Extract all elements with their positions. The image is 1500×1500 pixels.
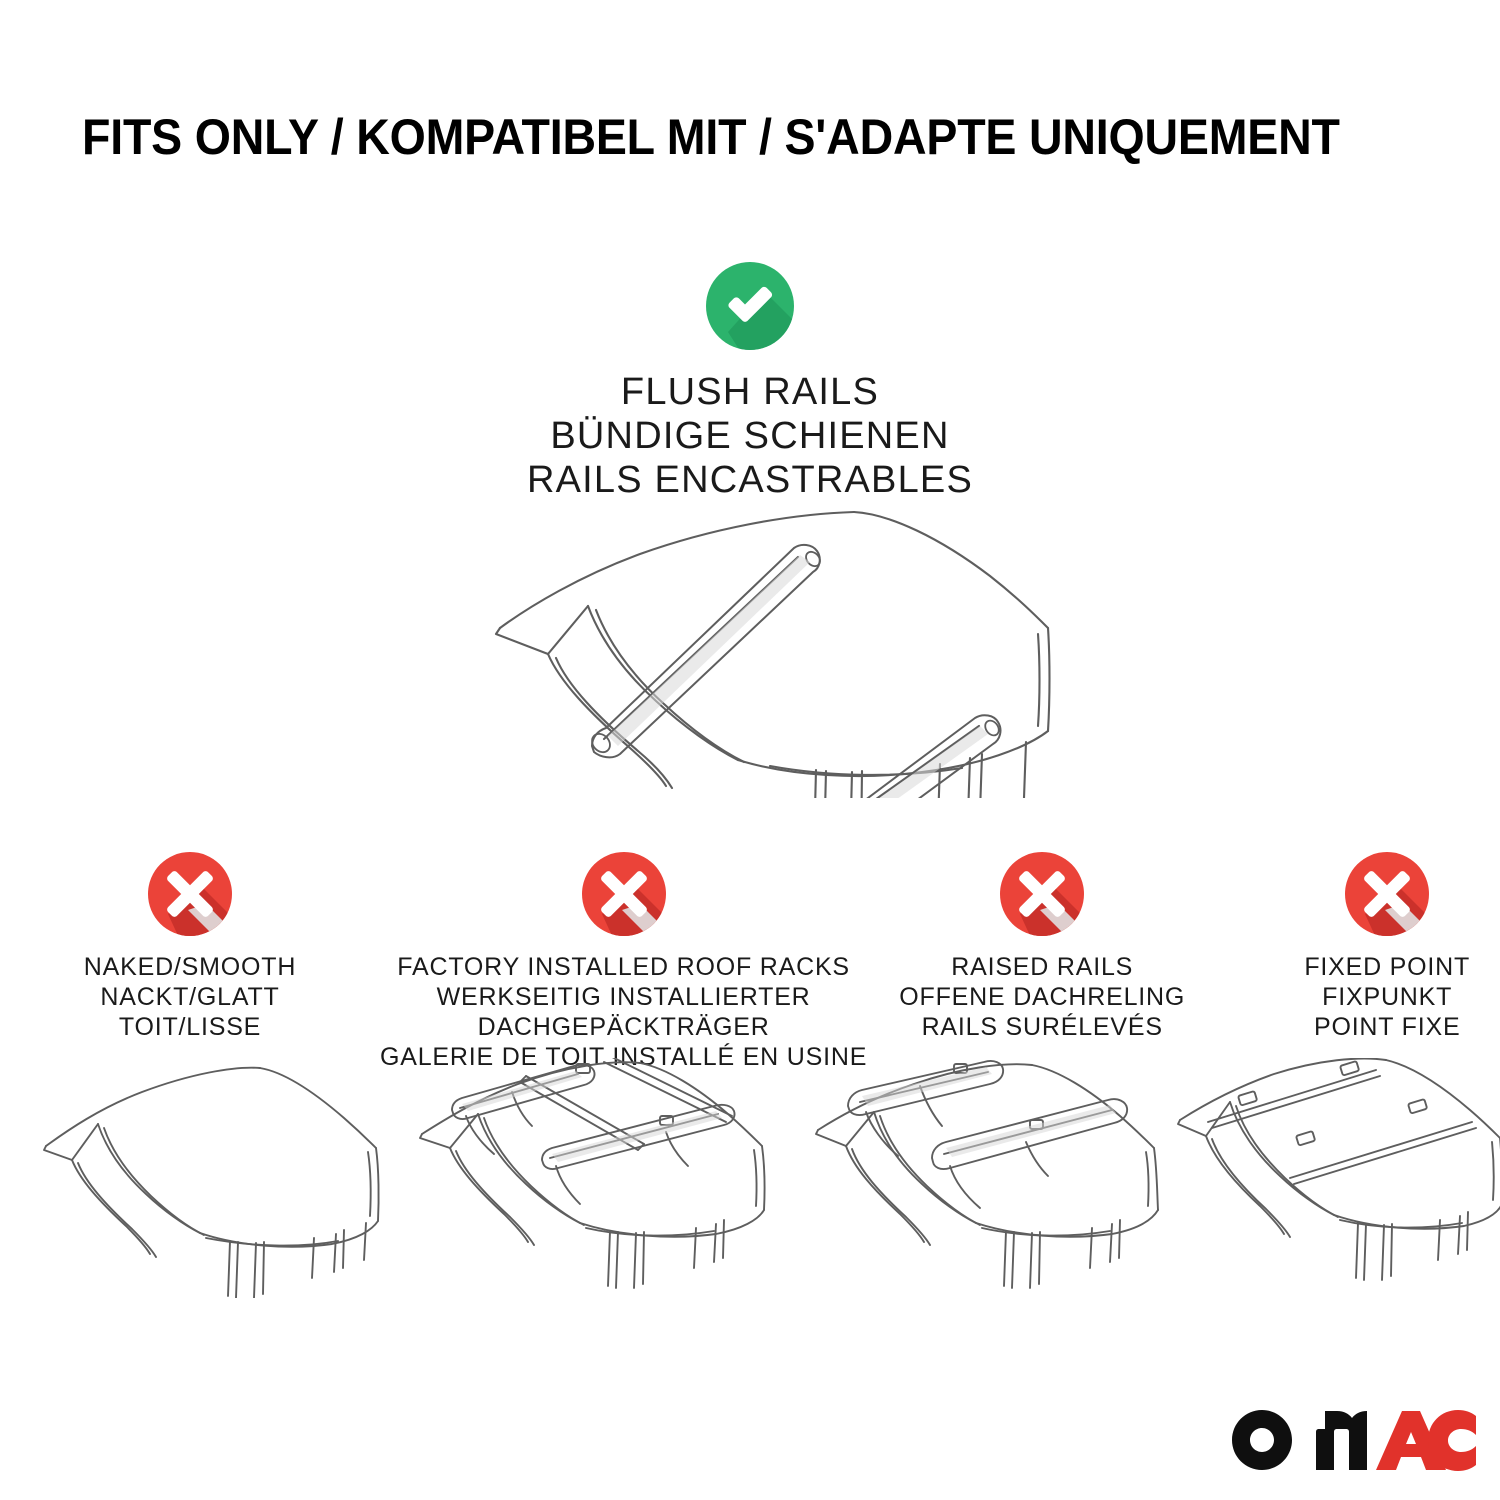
rejected-label-line-1: NAKED/SMOOTH [84,952,296,982]
check-circle-icon [702,258,798,354]
rejected-label-line-1: FACTORY INSTALLED ROOF RACKS [380,952,867,982]
rejected-label-line-3: DACHGEPÄCKTRÄGER [380,1012,867,1042]
rejected-option-label: RAISED RAILS OFFENE DACHRELING RAILS SUR… [899,952,1185,1042]
omac-logo [1232,1404,1476,1476]
approved-label-line-3: RAILS ENCASTRABLES [0,458,1500,502]
rejected-options-row: NAKED/SMOOTH NACKT/GLATT TOIT/LISSE [0,848,1500,1072]
rejected-label-line-2: NACKT/GLATT [84,982,296,1012]
x-circle-icon [1341,848,1433,940]
rejected-label-line-3: TOIT/LISSE [84,1012,296,1042]
car-roof-raised-rails-illustration [808,1058,1188,1298]
rejected-option-label: NAKED/SMOOTH NACKT/GLATT TOIT/LISSE [84,952,296,1042]
rejected-option-raised-rails: RAISED RAILS OFFENE DACHRELING RAILS SUR… [867,848,1217,1042]
rejected-option-label: FACTORY INSTALLED ROOF RACKS WERKSEITIG … [380,952,867,1072]
rejected-label-line-3: POINT FIXE [1304,1012,1470,1042]
rejected-label-line-2: OFFENE DACHRELING [899,982,1185,1012]
rejected-illustrations-row [0,1058,1500,1298]
rejected-option-fixed-point: FIXED POINT FIXPUNKT POINT FIXE [1217,848,1500,1042]
x-circle-icon [996,848,1088,940]
car-roof-flush-rails-illustration [470,498,1060,798]
approved-label: FLUSH RAILS BÜNDIGE SCHIENEN RAILS ENCAS… [0,370,1500,502]
page-title: FITS ONLY / KOMPATIBEL MIT / S'ADAPTE UN… [82,108,1340,166]
x-circle-icon [578,848,670,940]
rejected-option-label: FIXED POINT FIXPUNKT POINT FIXE [1304,952,1470,1042]
approved-label-line-1: FLUSH RAILS [0,370,1500,414]
rejected-label-line-2: FIXPUNKT [1304,982,1470,1012]
rejected-label-line-1: FIXED POINT [1304,952,1470,982]
car-roof-factory-racks-illustration [408,1058,798,1298]
rejected-label-line-3: RAILS SURÉLEVÉS [899,1012,1185,1042]
x-circle-icon [144,848,236,940]
approved-section: FLUSH RAILS BÜNDIGE SCHIENEN RAILS ENCAS… [0,258,1500,502]
car-roof-naked-smooth-illustration [38,1058,383,1298]
compatibility-infographic: FITS ONLY / KOMPATIBEL MIT / S'ADAPTE UN… [0,0,1500,1500]
rejected-option-naked-smooth: NAKED/SMOOTH NACKT/GLATT TOIT/LISSE [0,848,380,1042]
car-roof-fixed-point-illustration [1172,1058,1500,1298]
rejected-label-line-1: RAISED RAILS [899,952,1185,982]
rejected-option-factory-roof-racks: FACTORY INSTALLED ROOF RACKS WERKSEITIG … [380,848,867,1072]
rejected-label-line-2: WERKSEITIG INSTALLIERTER [380,982,867,1012]
approved-label-line-2: BÜNDIGE SCHIENEN [0,414,1500,458]
